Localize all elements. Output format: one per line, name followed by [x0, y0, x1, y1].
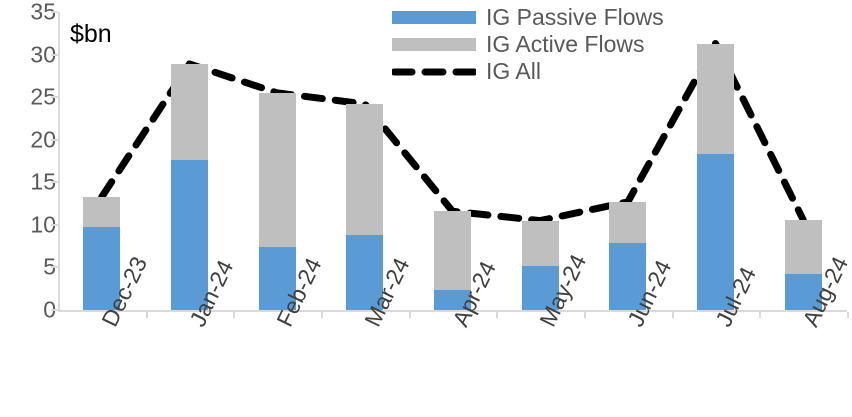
y-tick-label: 25: [12, 86, 56, 109]
y-axis: 05101520253035: [0, 0, 56, 417]
bar-segment-active[interactable]: [346, 104, 383, 235]
bar-segment-active[interactable]: [83, 197, 120, 227]
bar-segment-active[interactable]: [697, 44, 734, 155]
dashed-line-swatch: [392, 65, 476, 78]
x-tick-mark: [233, 312, 235, 318]
y-tick-label: 15: [12, 171, 56, 194]
bar-segment-active[interactable]: [171, 64, 208, 160]
legend-label: IG All: [486, 60, 541, 83]
y-tick-mark: [51, 266, 58, 268]
bar-segment-active[interactable]: [522, 221, 559, 266]
bar-segment-active[interactable]: [609, 202, 646, 243]
y-tick-mark: [51, 309, 58, 311]
x-tick-mark: [847, 312, 849, 318]
y-tick-mark: [51, 181, 58, 183]
legend-item[interactable]: IG Passive Flows: [392, 4, 664, 31]
y-tick-mark: [51, 224, 58, 226]
bar-group[interactable]: [697, 44, 734, 310]
y-tick-mark: [51, 11, 58, 13]
y-tick-label: 35: [12, 1, 56, 24]
legend-item[interactable]: IG All: [392, 58, 664, 85]
x-tick-mark: [496, 312, 498, 318]
x-tick-mark: [672, 312, 674, 318]
x-tick-mark: [584, 312, 586, 318]
bar-segment-active[interactable]: [434, 211, 471, 289]
y-tick-label: 20: [12, 128, 56, 151]
x-tick-mark: [321, 312, 323, 318]
chart-legend: IG Passive FlowsIG Active FlowsIG All: [392, 4, 664, 85]
y-tick-mark: [51, 54, 58, 56]
y-tick-label: 0: [12, 299, 56, 322]
y-tick-mark: [51, 139, 58, 141]
legend-item[interactable]: IG Active Flows: [392, 31, 664, 58]
bar-segment-active[interactable]: [785, 220, 822, 274]
chart-container: 05101520253035 $bn IG Passive FlowsIG Ac…: [0, 0, 852, 417]
bar-group[interactable]: [171, 64, 208, 310]
bar-segment-active[interactable]: [259, 93, 296, 247]
x-tick-mark: [409, 312, 411, 318]
x-tick-mark: [759, 312, 761, 318]
legend-label: IG Active Flows: [486, 33, 644, 56]
y-tick-label: 30: [12, 43, 56, 66]
active-swatch: [392, 38, 476, 51]
passive-swatch: [392, 11, 476, 24]
legend-label: IG Passive Flows: [486, 6, 664, 29]
y-tick-mark: [51, 96, 58, 98]
y-tick-label: 5: [12, 256, 56, 279]
x-tick-mark: [146, 312, 148, 318]
y-tick-label: 10: [12, 213, 56, 236]
